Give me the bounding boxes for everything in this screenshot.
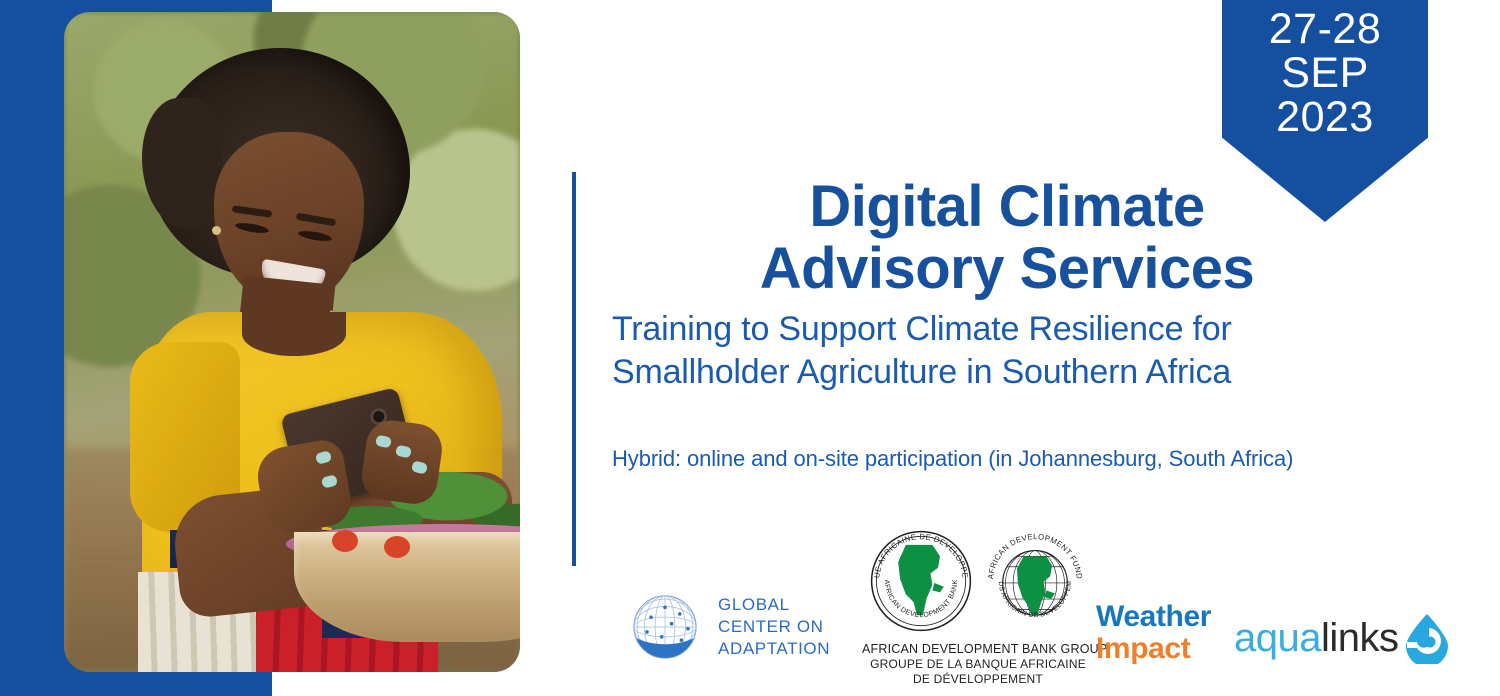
photo-tomato (332, 530, 358, 552)
photo-earring (212, 226, 221, 235)
gca-line-2: CENTER ON (718, 616, 830, 638)
photo-illustration (64, 12, 520, 672)
water-droplet-icon (1403, 612, 1451, 664)
logo-global-center-on-adaptation: GLOBAL CENTER ON ADAPTATION (624, 586, 830, 668)
partner-logos: GLOBAL CENTER ON ADAPTATION BANQUE AFRIC (612, 520, 1500, 696)
weather-impact-word-1: Weather (1096, 602, 1211, 632)
aqualinks-word-2: links (1321, 616, 1399, 661)
photo-hand-right (359, 417, 445, 507)
afdb-emblems: BANQUE AFRICAINE DE DEVELOPPEMENT AFRICA… (862, 524, 1094, 638)
hero-photo (64, 12, 520, 672)
subtitle-line-1: Training to Support Climate Resilience f… (612, 308, 1402, 351)
afdb-name-en: AFRICAN DEVELOPMENT BANK GROUP (862, 641, 1094, 657)
aqualinks-word-1: aqua (1234, 616, 1321, 661)
participation-note: Hybrid: online and on-site participation… (612, 446, 1402, 472)
title-line-1: Digital Climate (612, 176, 1402, 238)
afdb-name-fr: GROUPE DE LA BANQUE AFRICAINE DE DÉVELOP… (862, 657, 1094, 688)
event-banner: 27-28 SEP 2023 Digital Climate Advisory … (0, 0, 1500, 696)
photo-collar (242, 312, 346, 356)
page-title: Digital Climate Advisory Services (612, 176, 1402, 300)
logo-aqualinks: aqua links (1234, 612, 1451, 664)
logo-african-development-bank-group: BANQUE AFRICAINE DE DEVELOPPEMENT AFRICA… (862, 524, 1094, 688)
vertical-accent-rule (572, 172, 576, 566)
gca-line-1: GLOBAL (718, 594, 830, 616)
afdb-bank-emblem-icon: BANQUE AFRICAINE DE DEVELOPPEMENT AFRICA… (864, 524, 978, 638)
gca-wordmark: GLOBAL CENTER ON ADAPTATION (718, 594, 830, 659)
title-line-2: Advisory Services (612, 238, 1402, 300)
weather-impact-word-2: Impact (1096, 634, 1211, 664)
logo-weather-impact: Weather Impact (1096, 602, 1211, 664)
globe-wireframe-icon (624, 586, 706, 668)
gca-line-3: ADAPTATION (718, 638, 830, 660)
subtitle-line-2: Smallholder Agriculture in Southern Afri… (612, 351, 1402, 394)
photo-tomato (384, 536, 410, 558)
afdb-fund-emblem-icon: AFRICAN DEVELOPMENT FUND FONDS AFRICAIN … (978, 524, 1092, 638)
page-subtitle: Training to Support Climate Resilience f… (612, 308, 1402, 393)
afdb-wordmark: AFRICAN DEVELOPMENT BANK GROUP GROUPE DE… (862, 641, 1094, 688)
